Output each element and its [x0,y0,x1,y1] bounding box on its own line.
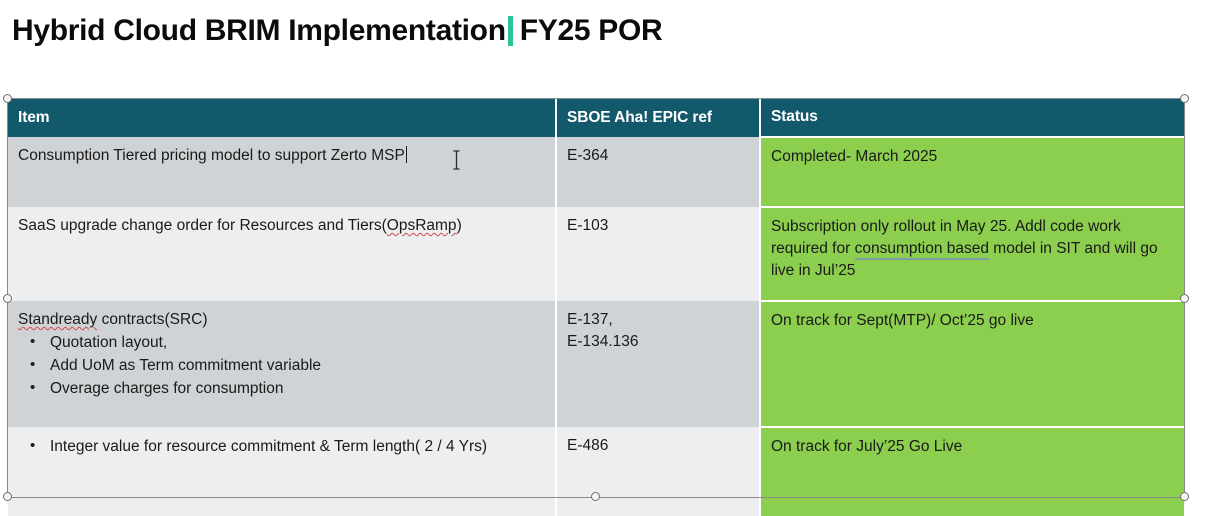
resize-handle-bottom-right[interactable] [1180,492,1189,501]
column-header-status[interactable]: Status [760,99,1184,137]
grammar-underline-consumption-based: consumption based [855,240,989,260]
resize-handle-top-left[interactable] [3,94,12,103]
cell-item-3-heading: Standready contracts(SRC) [18,309,545,331]
page-title-main: Hybrid Cloud BRIM Implementation [12,16,506,46]
por-table[interactable]: Item SBOE Aha! EPIC ref Status Consumpti… [8,99,1184,516]
cell-status-2[interactable]: Subscription only rollout in May 25. Add… [760,207,1184,301]
table-row[interactable]: Consumption Tiered pricing model to supp… [8,137,1184,207]
cell-epic-2[interactable]: E-103 [556,207,760,301]
resize-handle-bottom-left[interactable] [3,492,12,501]
cell-epic-3[interactable]: E-137, E-134.136 [556,301,760,427]
cell-item-4-bullet-list: Integer value for resource commitment & … [18,436,545,458]
spellcheck-error-standready: Standready [18,311,97,328]
cell-item-3-heading-tail: contracts(SRC) [97,311,207,328]
resize-handle-top-right[interactable] [1180,94,1189,103]
text-insertion-caret [406,146,408,163]
cell-item-2-lead: SaaS upgrade change order for Resources … [18,217,387,234]
resize-handle-middle-left[interactable] [3,294,12,303]
list-item: Integer value for resource commitment & … [18,436,545,458]
list-item: Quotation layout, [18,332,545,354]
cell-item-2-tail: ) [457,217,462,234]
table-row[interactable]: Standready contracts(SRC) Quotation layo… [8,301,1184,427]
cell-status-1[interactable]: Completed- March 2025 [760,137,1184,207]
cell-epic-4[interactable]: E-486 [556,427,760,516]
cell-epic-3-line2: E-134.136 [567,331,749,353]
cell-status-3[interactable]: On track for Sept(MTP)/ Oct’25 go live [760,301,1184,427]
cell-item-2[interactable]: SaaS upgrade change order for Resources … [8,207,556,301]
cell-item-1-text: Consumption Tiered pricing model to supp… [18,147,405,164]
selection-border-top [8,98,1184,99]
table-row[interactable]: Integer value for resource commitment & … [8,427,1184,516]
cell-item-3[interactable]: Standready contracts(SRC) Quotation layo… [8,301,556,427]
table-header-row: Item SBOE Aha! EPIC ref Status [8,99,1184,137]
cell-status-4[interactable]: On track for July’25 Go Live [760,427,1184,516]
list-item: Overage charges for consumption [18,378,545,400]
column-header-epic[interactable]: SBOE Aha! EPIC ref [556,99,760,137]
resize-handle-bottom-center[interactable] [591,492,600,501]
cell-item-1[interactable]: Consumption Tiered pricing model to supp… [8,137,556,207]
resize-handle-middle-right[interactable] [1180,294,1189,303]
cell-item-3-bullet-list: Quotation layout, Add UoM as Term commit… [18,332,545,400]
spellcheck-error-opsramp: OpsRamp [387,217,457,234]
column-header-item[interactable]: Item [8,99,556,137]
table-row[interactable]: SaaS upgrade change order for Resources … [8,207,1184,301]
page-title: Hybrid Cloud BRIM Implementation FY25 PO… [12,16,662,46]
cell-item-4[interactable]: Integer value for resource commitment & … [8,427,556,516]
page-title-suffix: FY25 POR [520,16,663,46]
cell-epic-1[interactable]: E-364 [556,137,760,207]
por-table-container[interactable]: Item SBOE Aha! EPIC ref Status Consumpti… [8,99,1184,497]
cell-epic-3-line1: E-137, [567,309,749,331]
list-item: Add UoM as Term commitment variable [18,355,545,377]
title-accent-bar [508,16,513,46]
